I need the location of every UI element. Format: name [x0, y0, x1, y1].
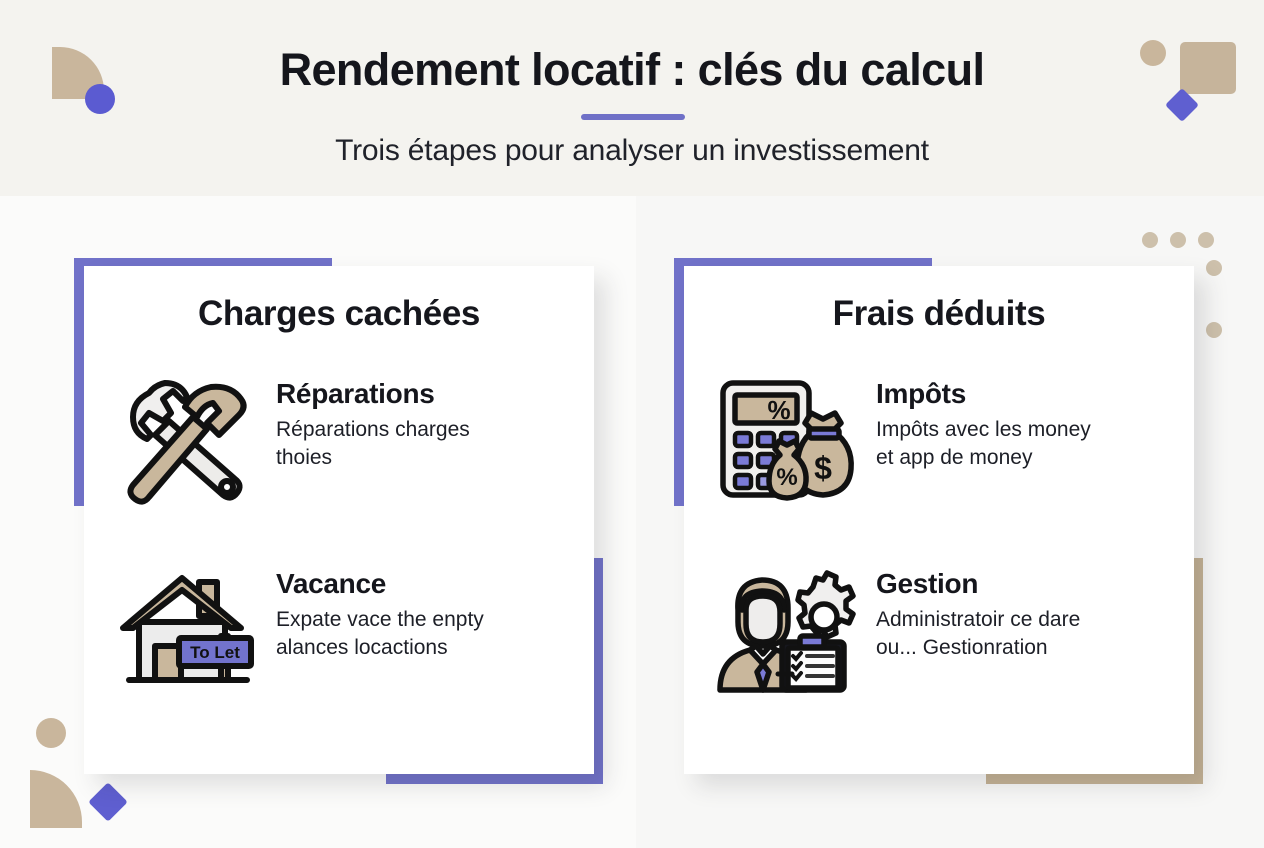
list-item-text: Vacance Expate vace the enpty alances lo…	[276, 560, 506, 661]
list-item-heading: Impôts	[876, 378, 1106, 410]
card-title: Charges cachées	[84, 294, 594, 334]
list-item[interactable]: Gestion Administratoir ce dare ou... Ges…	[712, 560, 1172, 700]
list-item[interactable]: %	[712, 370, 1172, 510]
card-title: Frais déduits	[684, 294, 1194, 334]
card-frais-deduits[interactable]: Frais déduits %	[684, 266, 1194, 774]
card-accent-bottom-right	[986, 773, 1203, 784]
dot-icon	[1142, 232, 1158, 248]
svg-text:$: $	[814, 450, 832, 486]
list-item[interactable]: Réparations Réparations charges thoies	[112, 370, 572, 510]
list-item-heading: Vacance	[276, 568, 506, 600]
to-let-sign-label: To Let	[190, 643, 240, 662]
title-divider	[581, 114, 685, 120]
house-to-let-icon: To Let	[112, 560, 258, 700]
dot-icon	[1206, 260, 1222, 276]
circle-icon	[36, 718, 66, 748]
list-item-heading: Gestion	[876, 568, 1106, 600]
list-item-body: Expate vace the enpty alances locactions	[276, 606, 506, 661]
calculator-money-bags-icon: %	[712, 370, 858, 510]
list-item-body: Administratoir ce dare ou... Gestionrati…	[876, 606, 1106, 661]
page-title: Rendement locatif : clés du calcul	[0, 44, 1264, 96]
list-item[interactable]: To Let Vacance Expate vace the enpty ala…	[112, 560, 572, 700]
list-item-heading: Réparations	[276, 378, 506, 410]
list-item-text: Réparations Réparations charges thoies	[276, 370, 506, 471]
list-item-text: Impôts Impôts avec les money et app de m…	[876, 370, 1106, 471]
dot-icon	[1198, 232, 1214, 248]
header: Rendement locatif : clés du calcul Trois…	[0, 0, 1264, 196]
page-subtitle: Trois étapes pour analyser un investisse…	[0, 134, 1264, 168]
list-item-body: Réparations charges thoies	[276, 416, 506, 471]
list-item-text: Gestion Administratoir ce dare ou... Ges…	[876, 560, 1106, 661]
list-item-body: Impôts avec les money et app de money	[876, 416, 1106, 471]
card-accent-bottom-right	[386, 773, 603, 784]
svg-text:%: %	[776, 464, 797, 491]
dot-icon	[1206, 322, 1222, 338]
manager-gear-clipboard-icon	[712, 560, 858, 700]
dot-icon	[1170, 232, 1186, 248]
wrench-hammer-icon	[112, 370, 258, 510]
svg-text:%: %	[767, 395, 790, 425]
card-charges-cachees[interactable]: Charges cachées Réparations	[84, 266, 594, 774]
infographic-stage: Rendement locatif : clés du calcul Trois…	[0, 0, 1264, 848]
